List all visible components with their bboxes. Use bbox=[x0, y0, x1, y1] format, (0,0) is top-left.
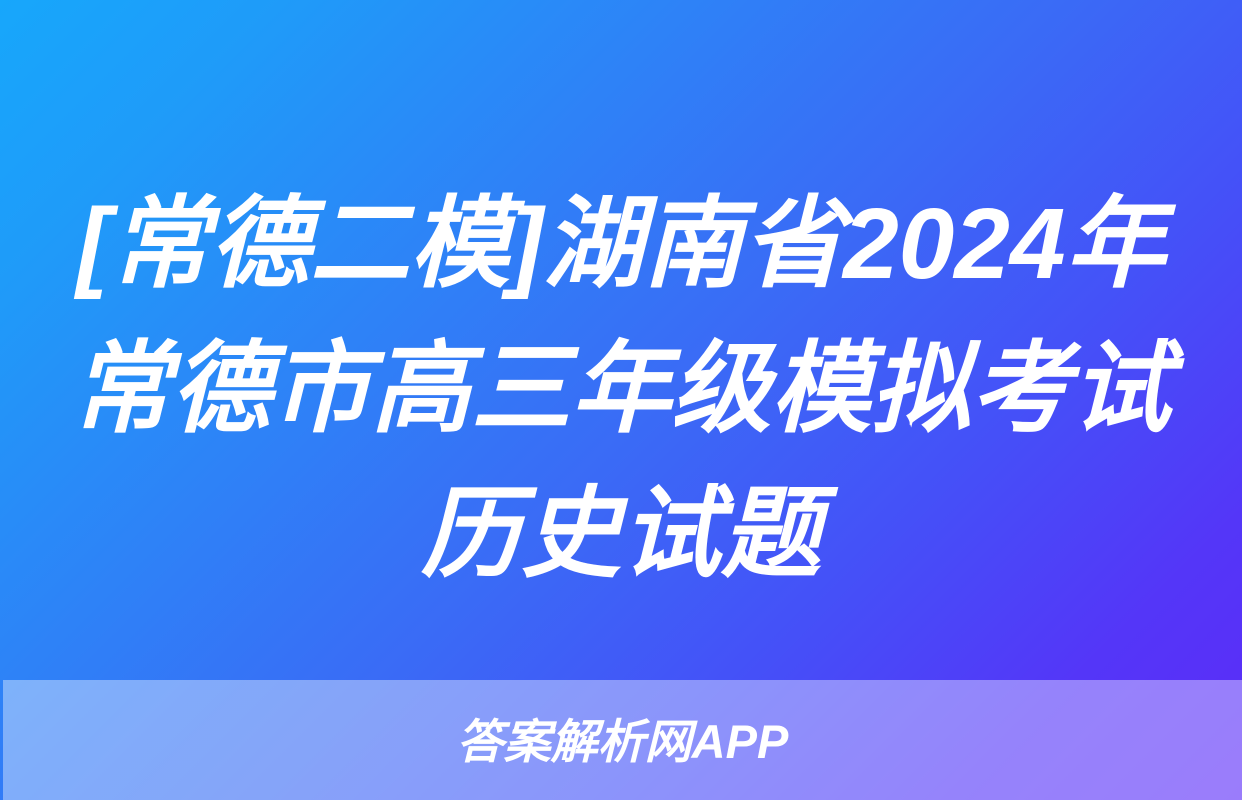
app-watermark-label: 答案解析网APP bbox=[457, 718, 789, 765]
banner-title-block: [常德二模]湖南省2024年常德市高三年级模拟考试历史试题 bbox=[0, 172, 1242, 607]
page-title: [常德二模]湖南省2024年常德市高三年级模拟考试历史试题 bbox=[52, 172, 1190, 607]
footer-watermark-band: 答案解析网APP bbox=[3, 680, 1242, 800]
exam-title-banner: [常德二模]湖南省2024年常德市高三年级模拟考试历史试题 答案解析网APP bbox=[0, 0, 1242, 800]
